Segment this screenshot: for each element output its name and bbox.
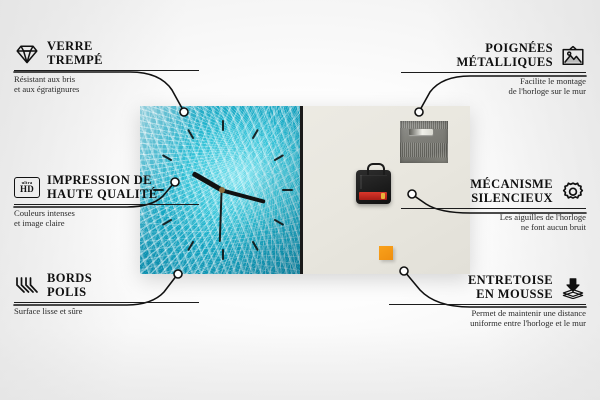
callout-entretoise-en-mousse: ENTRETOISE EN MOUSSE Permet de maintenir… — [389, 274, 586, 329]
callout-rule — [14, 70, 199, 71]
polished-edges-icon — [14, 275, 40, 297]
callout-rule — [14, 302, 199, 303]
callout-subtitle: Permet de maintenir une distance uniform… — [389, 308, 586, 329]
callout-title: VERRE TREMPÉ — [47, 40, 103, 67]
callout-subtitle: Couleurs intenses et image claire — [14, 208, 199, 229]
callout-subtitle: Facilite le montage de l'horloge sur le … — [401, 76, 586, 97]
ultra-hd-icon: ultra HD — [14, 177, 40, 198]
callout-rule — [401, 208, 586, 209]
connector-marker-verre-trempe — [180, 108, 188, 116]
callout-poignees-metalliques: POIGNÉES MÉTALLIQUES Facilite le montage… — [401, 42, 586, 97]
ultra-hd-icon-bottom: HD — [20, 185, 34, 194]
callout-verre-trempe: VERRE TREMPÉ Résistant aux bris et aux é… — [14, 40, 199, 95]
callout-mecanisme-silencieux: MÉCANISME SILENCIEUX Les aiguilles de l'… — [401, 178, 586, 233]
connector-marker-poignees — [415, 108, 423, 116]
callout-rule — [14, 204, 199, 205]
callout-impression-haute-qualite: ultra HD IMPRESSION DE HAUTE QUALITÉ Cou… — [14, 174, 199, 229]
callout-subtitle: Les aiguilles de l'horloge ne font aucun… — [401, 212, 586, 233]
callout-title: ENTRETOISE EN MOUSSE — [468, 274, 553, 301]
gear-icon — [560, 181, 586, 203]
callout-rule — [401, 72, 586, 73]
infographic-canvas: VERRE TREMPÉ Résistant aux bris et aux é… — [0, 0, 600, 400]
callout-subtitle: Résistant aux bris et aux égratignures — [14, 74, 199, 95]
callout-title: BORDS POLIS — [47, 272, 92, 299]
callout-subtitle: Surface lisse et sûre — [14, 306, 199, 316]
wall-frame-hanger-icon — [560, 45, 586, 67]
callout-bords-polis: BORDS POLIS Surface lisse et sûre — [14, 272, 199, 316]
callout-rule — [389, 304, 586, 305]
diamond-icon — [14, 43, 40, 65]
callout-title: MÉCANISME SILENCIEUX — [470, 178, 553, 205]
foam-spacer-arrow-icon — [560, 277, 586, 299]
callout-title: POIGNÉES MÉTALLIQUES — [456, 42, 553, 69]
callout-title: IMPRESSION DE HAUTE QUALITÉ — [47, 174, 157, 201]
